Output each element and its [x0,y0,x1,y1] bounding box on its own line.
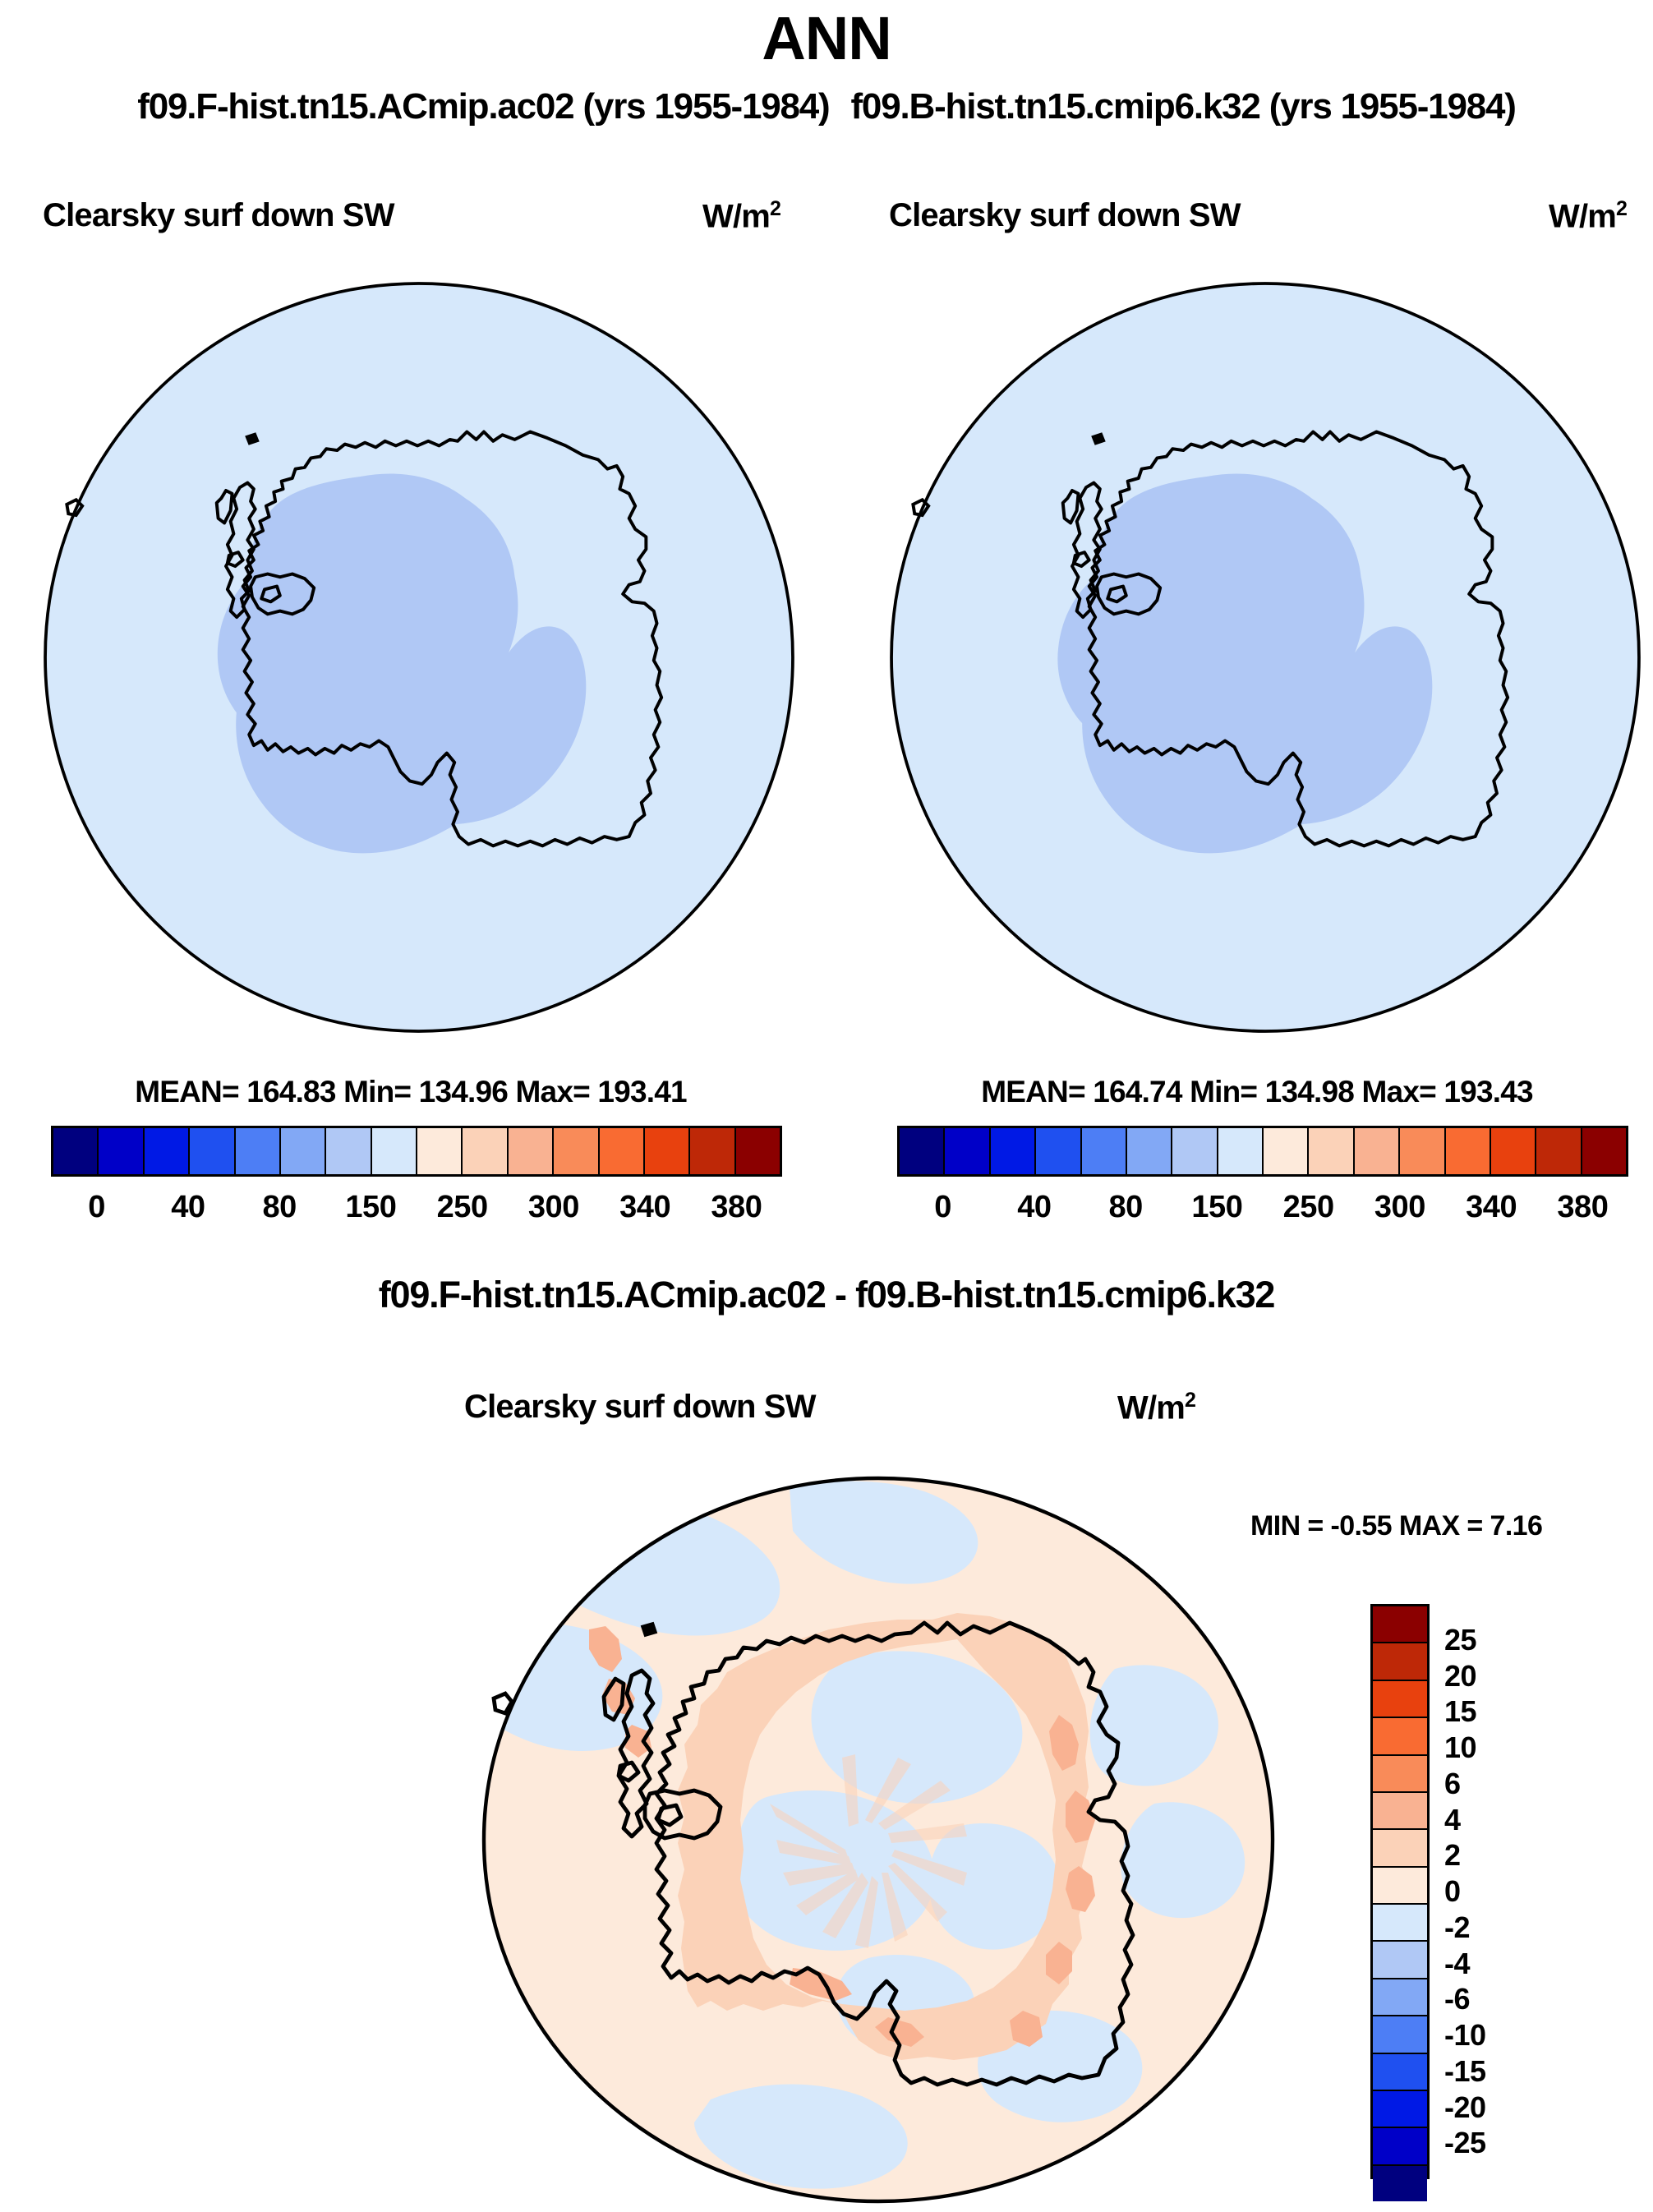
difference-colorbar-tick-25: 25 [1444,1623,1476,1657]
difference-colorbar-cell-3 [1373,1718,1427,1755]
case-a-colorbar-cell-15 [736,1128,780,1174]
difference-colorbar-cell-13 [1373,2091,1427,2128]
difference-colorbar-tick-15: 15 [1444,1694,1476,1729]
case-a-colorbar-tick-250: 250 [437,1190,488,1225]
case-b-colorbar-tick-40: 40 [1017,1190,1051,1225]
case-a-colorbar-labels: 04080150250300340380 [51,1190,782,1233]
case-a-variable-label: Clearsky surf down SW [43,197,394,234]
case-a-colorbar-cell-11 [554,1128,599,1174]
case-b-colorbar-cell-13 [1491,1128,1536,1174]
case-b-colorbar-cell-4 [1082,1128,1127,1174]
case-b-colorbar-cell-14 [1536,1128,1582,1174]
case-titles-row: f09.F-hist.tn15.ACmip.ac02 (yrs 1955-198… [0,86,1653,127]
case-a-colorbar-cell-7 [372,1128,417,1174]
case-a-colorbar-cell-12 [600,1128,645,1174]
case-b-colorbar-cell-7 [1218,1128,1264,1174]
difference-colorbar-tick-4: 4 [1444,1803,1461,1837]
case-b-colorbar-cell-2 [991,1128,1036,1174]
case-a-map [33,271,805,1044]
difference-colorbar-tick-6: 6 [1444,1767,1461,1801]
case-a-colorbar-tick-80: 80 [262,1190,296,1225]
case-a-colorbar-tick-380: 380 [711,1190,762,1225]
case-b-colorbar-tick-380: 380 [1557,1190,1608,1225]
case-b-colorbar-cell-11 [1400,1128,1445,1174]
case-b-units-text: W/m [1549,198,1616,234]
difference-colorbar-tick--2: -2 [1444,1910,1470,1945]
case-a-colorbar-cell-1 [99,1128,144,1174]
difference-colorbar-tick--10: -10 [1444,2018,1486,2053]
case-b-variable-label: Clearsky surf down SW [889,197,1241,234]
case-b-colorbar-cell-1 [945,1128,990,1174]
case-a-units-label: W/m2 [702,197,780,235]
case-b-colorbar-tick-300: 300 [1374,1190,1425,1225]
difference-minmax: MIN = -0.55 MAX = 7.16 [1250,1510,1542,1542]
case-b-colorbar-tick-80: 80 [1108,1190,1142,1225]
case-a-colorbar-cells [51,1126,782,1177]
difference-colorbar-cell-5 [1373,1793,1427,1830]
difference-colorbar: 252015106420-2-4-6-10-15-20-25 [1370,1604,1584,2179]
difference-map-svg [464,1475,1294,2206]
case-a-colorbar-tick-150: 150 [345,1190,396,1225]
difference-colorbar-cell-10 [1373,1979,1427,2016]
case-b-colorbar-cell-5 [1127,1128,1172,1174]
difference-colorbar-cell-2 [1373,1681,1427,1718]
case-a-colorbar-cell-2 [145,1128,190,1174]
case-a-colorbar-cell-0 [53,1128,99,1174]
case-b-colorbar-cell-10 [1355,1128,1400,1174]
case-b-colorbar-cell-15 [1582,1128,1626,1174]
case-b-colorbar-cell-9 [1309,1128,1354,1174]
case-a-colorbar-cell-5 [281,1128,326,1174]
difference-colorbar-cell-0 [1373,1606,1427,1643]
case-b-colorbar-cells [897,1126,1628,1177]
difference-colorbar-cell-15 [1373,2166,1427,2201]
case-b-units-label: W/m2 [1549,197,1627,235]
difference-units-exponent: 2 [1185,1389,1195,1412]
case-a-colorbar-tick-0: 0 [88,1190,105,1225]
difference-colorbar-cell-6 [1373,1830,1427,1867]
case-b-stats: MEAN= 164.74 Min= 134.98 Max= 193.43 [863,1075,1651,1109]
case-a-colorbar-tick-340: 340 [619,1190,670,1225]
case-b-colorbar-cell-3 [1036,1128,1081,1174]
difference-colorbar-labels: 252015106420-2-4-6-10-15-20-25 [1444,1604,1584,2179]
difference-colorbar-tick--6: -6 [1444,1982,1470,2016]
small-island-diff [642,1623,656,1636]
case-a-colorbar-tick-300: 300 [528,1190,579,1225]
difference-colorbar-tick-0: 0 [1444,1874,1461,1909]
case-a-colorbar-cell-10 [509,1128,554,1174]
case-a-colorbar-cell-9 [463,1128,508,1174]
case-a-colorbar: 04080150250300340380 [51,1126,782,1233]
difference-colorbar-tick--25: -25 [1444,2126,1486,2160]
case-a-colorbar-cell-13 [645,1128,690,1174]
difference-units-text: W/m [1117,1389,1185,1426]
case-a-title: f09.F-hist.tn15.ACmip.ac02 (yrs 1955-198… [137,86,829,127]
case-b-colorbar-labels: 04080150250300340380 [897,1190,1628,1233]
case-b-colorbar-cell-12 [1446,1128,1491,1174]
case-a-map-svg [33,271,805,1044]
difference-colorbar-cell-8 [1373,1905,1427,1942]
case-a-colorbar-cell-6 [326,1128,371,1174]
case-b-colorbar-cell-0 [900,1128,945,1174]
case-b-colorbar-cell-6 [1172,1128,1218,1174]
difference-colorbar-cell-4 [1373,1756,1427,1793]
case-a-colorbar-cell-4 [236,1128,281,1174]
difference-colorbar-tick--4: -4 [1444,1947,1470,1981]
difference-colorbar-cells [1370,1604,1430,2179]
figure-main-title: ANN [0,3,1653,73]
difference-map [464,1475,1294,2206]
case-a-colorbar-cell-3 [190,1128,235,1174]
difference-title: f09.F-hist.tn15.ACmip.ac02 - f09.B-hist.… [0,1274,1653,1316]
case-b-colorbar: 04080150250300340380 [897,1126,1628,1233]
case-b-map-svg [879,271,1651,1044]
difference-colorbar-tick--20: -20 [1444,2090,1486,2125]
case-b-colorbar-tick-150: 150 [1191,1190,1242,1225]
case-a-units-exponent: 2 [770,197,780,220]
case-b-map [879,271,1651,1044]
difference-colorbar-cell-1 [1373,1643,1427,1680]
case-a-stats: MEAN= 164.83 Min= 134.96 Max= 193.41 [16,1075,805,1109]
difference-colorbar-cell-11 [1373,2016,1427,2053]
difference-colorbar-cell-9 [1373,1942,1427,1979]
case-a-colorbar-cell-8 [417,1128,463,1174]
difference-colorbar-tick-2: 2 [1444,1838,1461,1873]
case-b-colorbar-cell-8 [1264,1128,1309,1174]
case-b-colorbar-tick-250: 250 [1283,1190,1334,1225]
difference-colorbar-cell-12 [1373,2054,1427,2091]
case-a-colorbar-tick-40: 40 [171,1190,205,1225]
difference-variable-label: Clearsky surf down SW [464,1389,816,1426]
difference-units-label: W/m2 [1117,1389,1195,1426]
case-b-colorbar-tick-0: 0 [934,1190,951,1225]
difference-colorbar-tick-10: 10 [1444,1730,1476,1765]
case-b-units-exponent: 2 [1616,197,1627,220]
case-b-title: f09.B-hist.tn15.cmip6.k32 (yrs 1955-1984… [850,86,1515,127]
difference-colorbar-tick--15: -15 [1444,2054,1486,2089]
difference-colorbar-cell-14 [1373,2128,1427,2165]
case-a-colorbar-cell-14 [690,1128,735,1174]
case-a-units-text: W/m [702,198,770,234]
case-b-colorbar-tick-340: 340 [1466,1190,1517,1225]
difference-colorbar-cell-7 [1373,1868,1427,1905]
difference-colorbar-tick-20: 20 [1444,1659,1476,1694]
